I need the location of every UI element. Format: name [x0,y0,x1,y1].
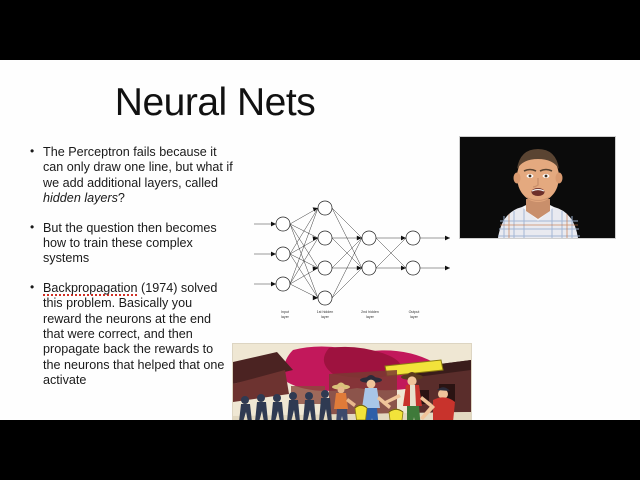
page-title: Neural Nets [0,81,430,125]
bullet-list: The Perceptron fails because it can only… [28,145,233,403]
arrowhead-group [271,207,450,300]
neural-network-diagram: Input layer 1st hidden layer 2nd hidden … [252,192,462,322]
bucket-brigade-illustration: Here is a picture of an old Bucket Briga… [232,343,472,420]
neuron-group [276,201,420,305]
list-item: Backpropagation (1974) solved this probl… [28,281,233,389]
bullet-text-perceptron-tail: ? [118,191,125,205]
list-item: The Perceptron fails because it can only… [28,145,233,207]
presenter-webcam[interactable] [459,136,616,239]
layer-label-output: Output layer [387,310,441,320]
video-player-frame: Neural Nets The Perceptron fails because… [0,0,640,480]
neural-network-svg [252,192,462,322]
bullet-text-perceptron: The Perceptron fails because it can only… [43,145,233,190]
bullet-text-backprop: (1974) solved this problem. Basically yo… [43,281,224,387]
bullet-text-how-to-train: But the question then becomes how to tra… [43,221,217,266]
bucket-brigade-svg [233,344,471,420]
letterbox-top [0,0,640,60]
list-item: But the question then becomes how to tra… [28,221,233,267]
presenter-webcam-image [460,137,615,238]
letterbox-bottom [0,420,640,480]
misspelled-word-backpropagation: Backpropagation [43,281,138,296]
presentation-slide: Neural Nets The Perceptron fails because… [0,60,640,420]
bullet-emphasis-hidden-layers: hidden layers [43,191,118,205]
